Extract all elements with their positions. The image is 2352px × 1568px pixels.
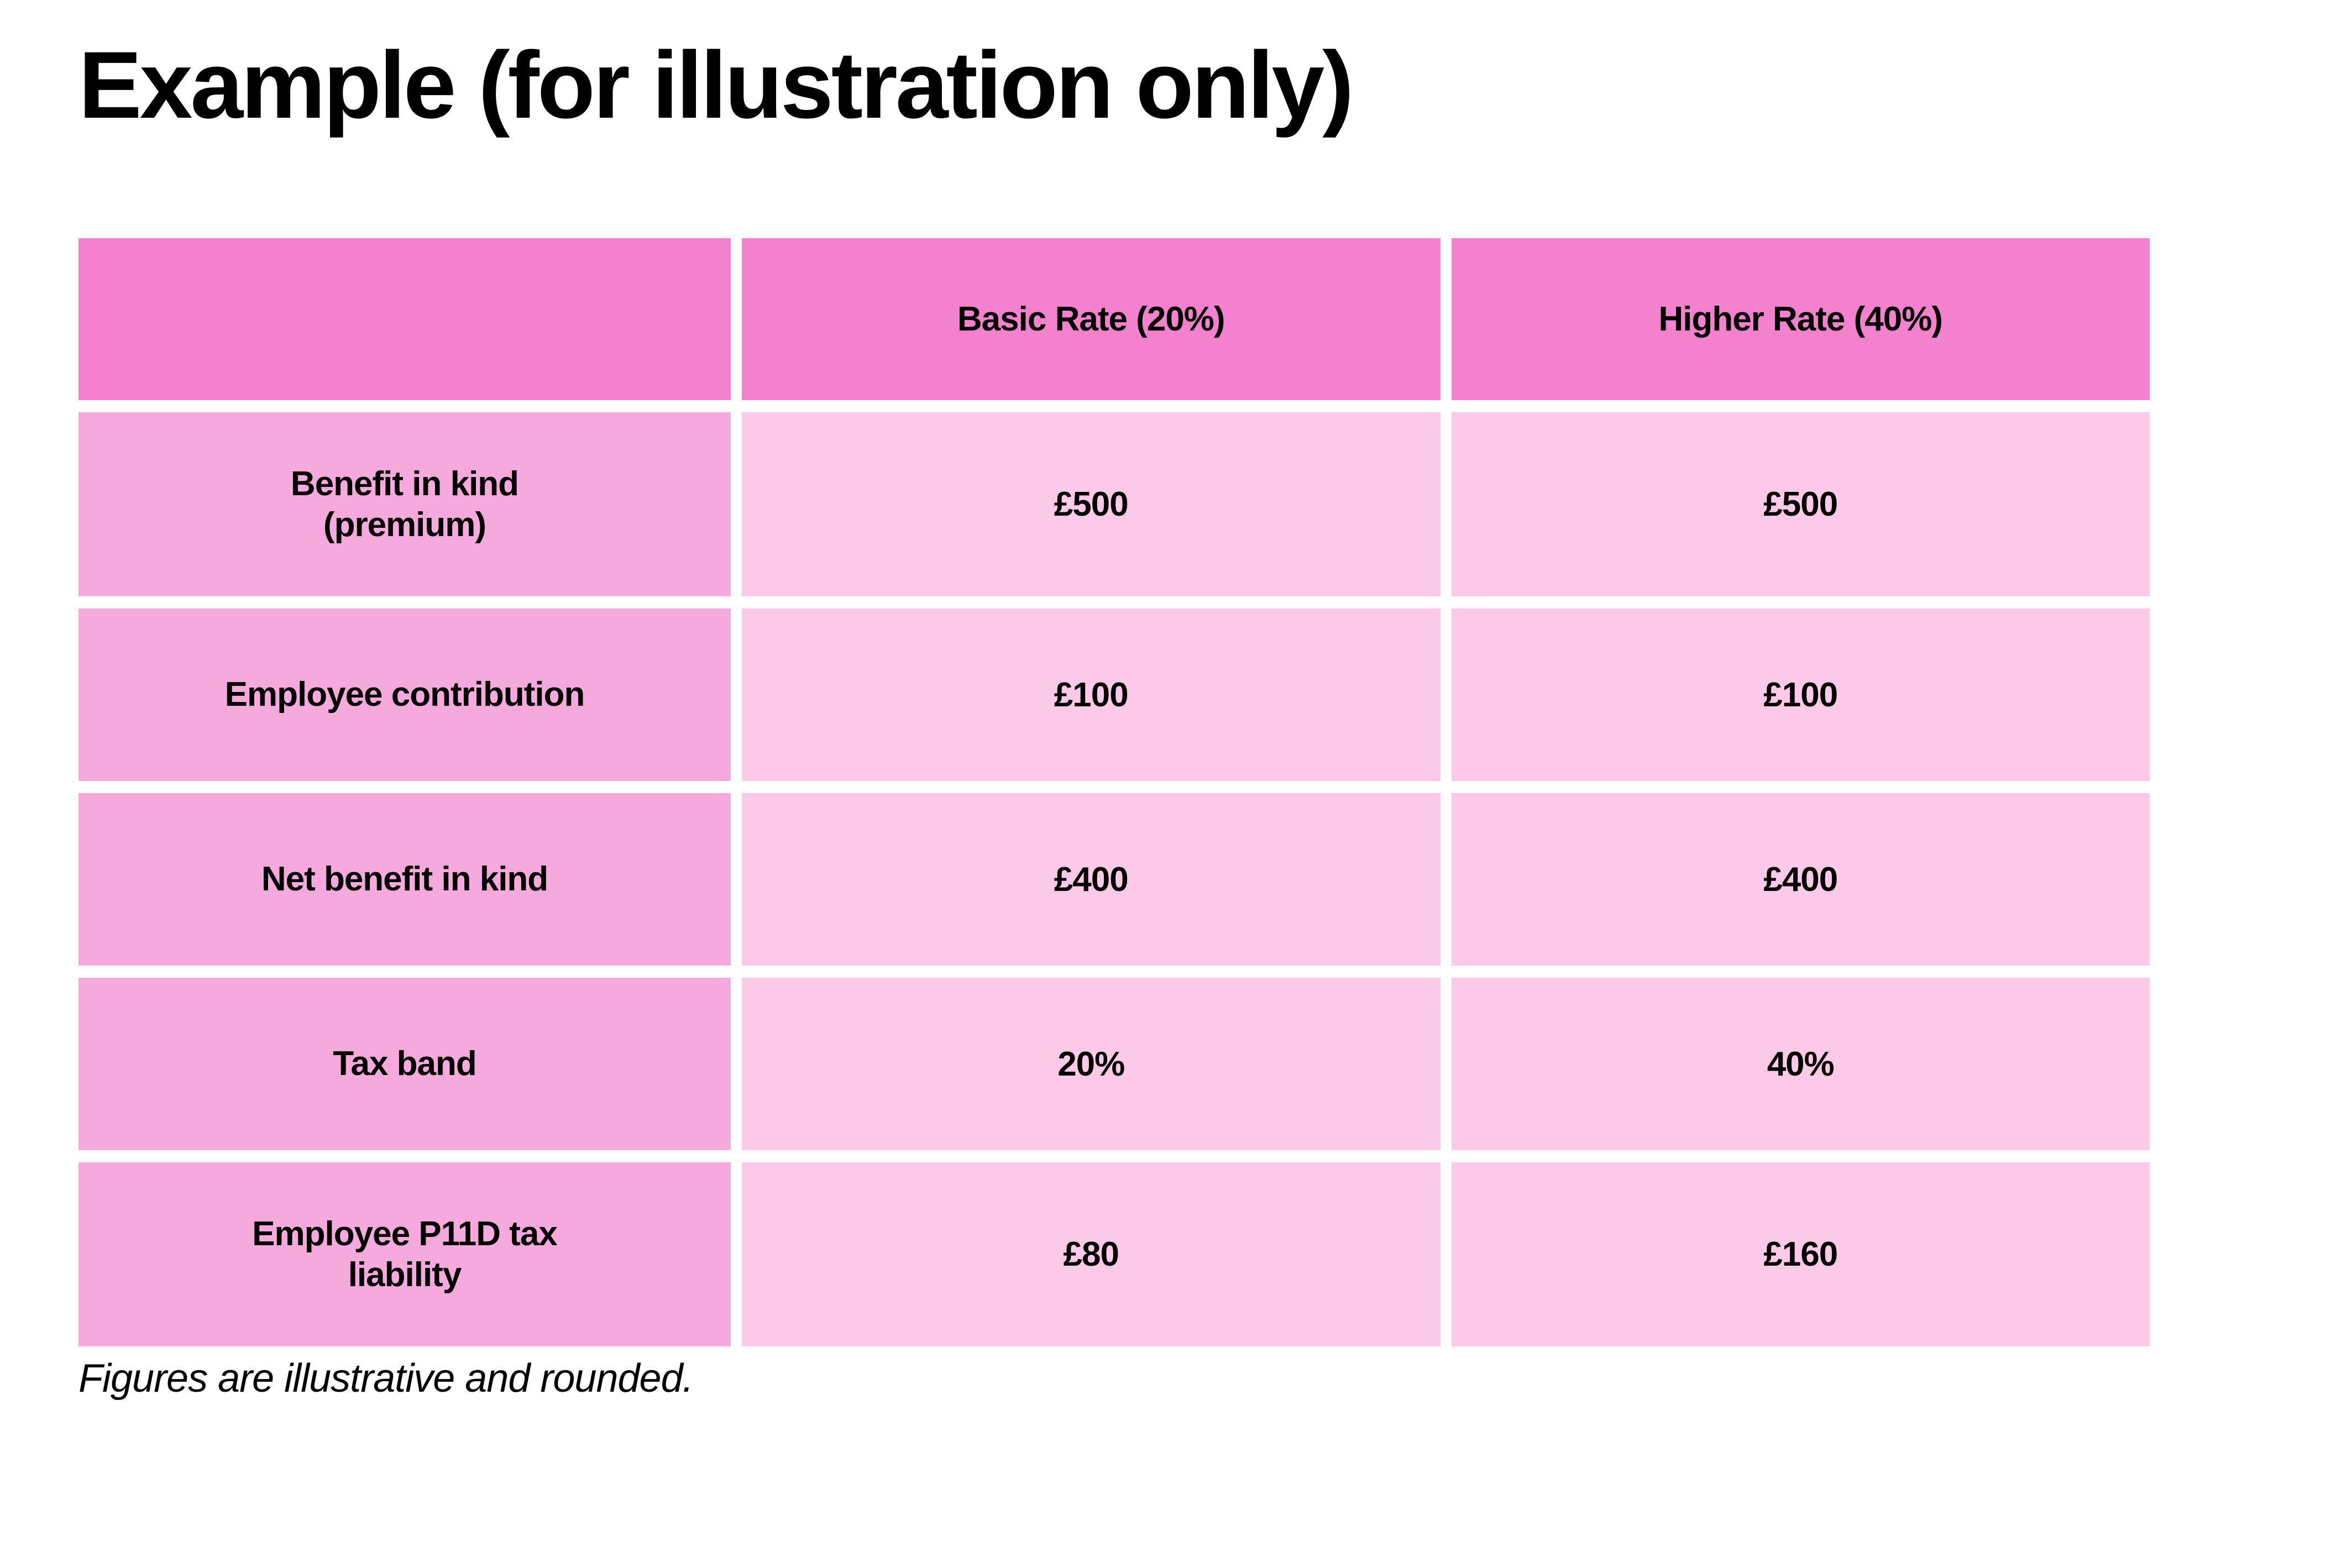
table-row: Tax band 20% 40% [78,978,2150,1150]
cell-higher-employee-contribution: £100 [1452,609,2150,781]
row-label-line-2: (premium) [323,506,486,544]
table-header-row: Basic Rate (20%) Higher Rate (40%) [78,238,2150,400]
cell-basic-employee-contribution: £100 [742,609,1440,781]
page-title: Example (for illustration only) [78,38,1352,133]
header-cell-basic-rate: Basic Rate (20%) [742,238,1440,400]
cell-basic-net-benefit-in-kind: £400 [742,793,1440,966]
table-footnote: Figures are illustrative and rounded. [78,1356,693,1401]
row-label-employee-contribution: Employee contribution [78,609,731,781]
page-root: Example (for illustration only) Basic Ra… [0,0,2352,1568]
cell-basic-employee-p11d-tax-liability: £80 [742,1162,1440,1346]
cell-higher-benefit-in-kind: £500 [1452,412,2150,596]
header-cell-corner [78,238,731,400]
row-label-net-benefit-in-kind: Net benefit in kind [78,793,731,966]
row-label-line-2: liability [348,1256,462,1294]
cell-higher-employee-p11d-tax-liability: £160 [1452,1162,2150,1346]
cell-basic-benefit-in-kind: £500 [742,412,1440,596]
row-label-line-1: Benefit in kind [291,465,518,503]
header-cell-higher-rate: Higher Rate (40%) [1452,238,2150,400]
table-row: Net benefit in kind £400 £400 [78,793,2150,966]
cell-basic-tax-band: 20% [742,978,1440,1150]
cell-higher-tax-band: 40% [1452,978,2150,1150]
table-row: Employee contribution £100 £100 [78,609,2150,781]
table-row: Benefit in kind (premium) £500 £500 [78,412,2150,596]
row-label-benefit-in-kind: Benefit in kind (premium) [78,412,731,596]
row-label-employee-p11d-tax-liability: Employee P11D tax liability [78,1162,731,1346]
example-table: Basic Rate (20%) Higher Rate (40%) Benef… [78,238,2150,1346]
row-label-line-1: Employee P11D tax [252,1215,557,1253]
cell-higher-net-benefit-in-kind: £400 [1452,793,2150,966]
table-row: Employee P11D tax liability £80 £160 [78,1162,2150,1346]
row-label-tax-band: Tax band [78,978,731,1150]
